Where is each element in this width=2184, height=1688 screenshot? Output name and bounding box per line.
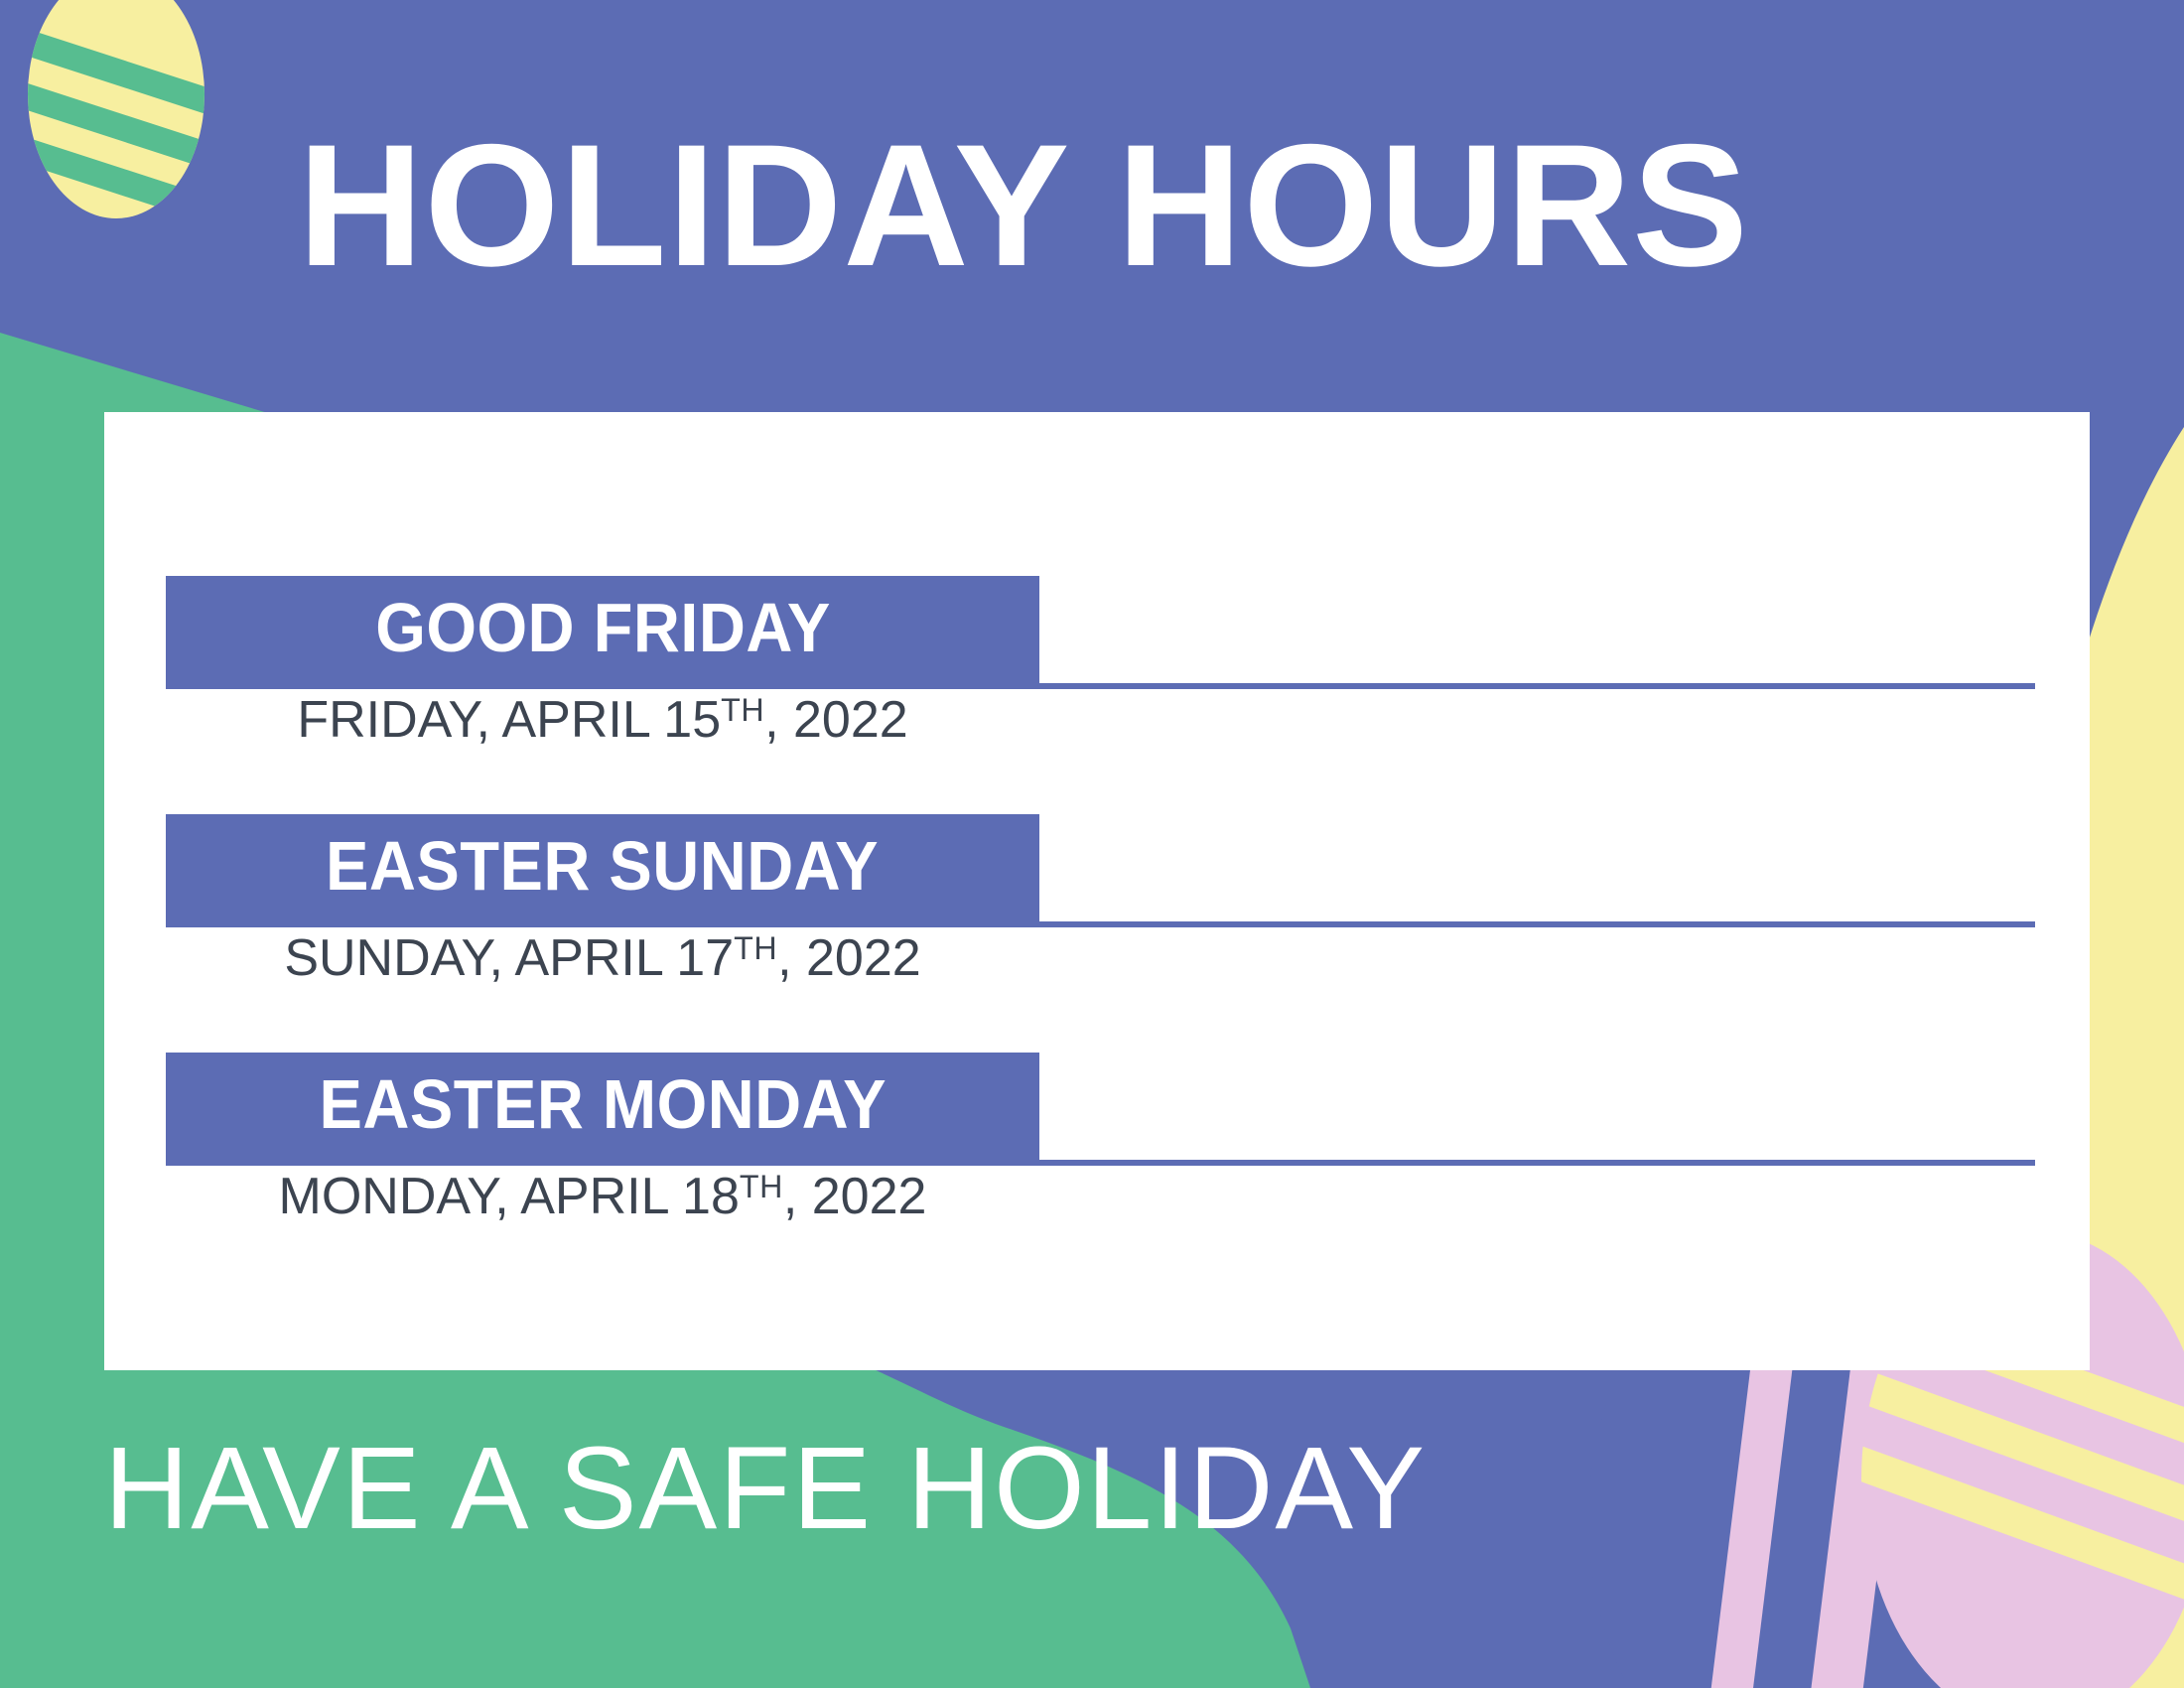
- holiday-name-bar: EASTER MONDAY: [166, 1053, 1039, 1160]
- hours-write-line[interactable]: [166, 683, 2035, 689]
- holiday-date: MONDAY, APRIL 18TH, 2022: [166, 1170, 1039, 1224]
- holiday-date-text: MONDAY, APRIL 18: [279, 1168, 740, 1225]
- holiday-card: GOOD FRIDAY FRIDAY, APRIL 15TH, 2022 EAS…: [104, 412, 2090, 1370]
- holiday-date-text: FRIDAY, APRIL 15: [297, 691, 721, 749]
- holiday-name-bar: GOOD FRIDAY: [166, 576, 1039, 683]
- holiday-name-bar: EASTER SUNDAY: [166, 814, 1039, 921]
- holiday-name-label: EASTER MONDAY: [319, 1069, 887, 1139]
- holiday-date-year: , 2022: [777, 929, 921, 987]
- hours-write-line[interactable]: [166, 1160, 2035, 1166]
- holiday-date: FRIDAY, APRIL 15TH, 2022: [166, 693, 1039, 748]
- holiday-date-year: , 2022: [764, 691, 908, 749]
- holiday-date-ordinal: TH: [734, 930, 777, 966]
- holiday-name-label: GOOD FRIDAY: [375, 593, 830, 662]
- holiday-hours-poster: HOLIDAY HOURS GOOD FRIDAY FRIDAY, APRIL …: [0, 0, 2184, 1688]
- holiday-date-ordinal: TH: [740, 1169, 783, 1204]
- holiday-name-label: EASTER SUNDAY: [326, 831, 879, 901]
- page-title: HOLIDAY HOURS: [298, 119, 1985, 293]
- holiday-date-text: SUNDAY, APRIL 17: [284, 929, 734, 987]
- holiday-date-ordinal: TH: [721, 692, 764, 728]
- tagline: HAVE A SAFE HOLIDAY: [104, 1430, 1693, 1547]
- holiday-date-year: , 2022: [783, 1168, 927, 1225]
- holiday-date: SUNDAY, APRIL 17TH, 2022: [166, 931, 1039, 986]
- hours-write-line[interactable]: [166, 921, 2035, 927]
